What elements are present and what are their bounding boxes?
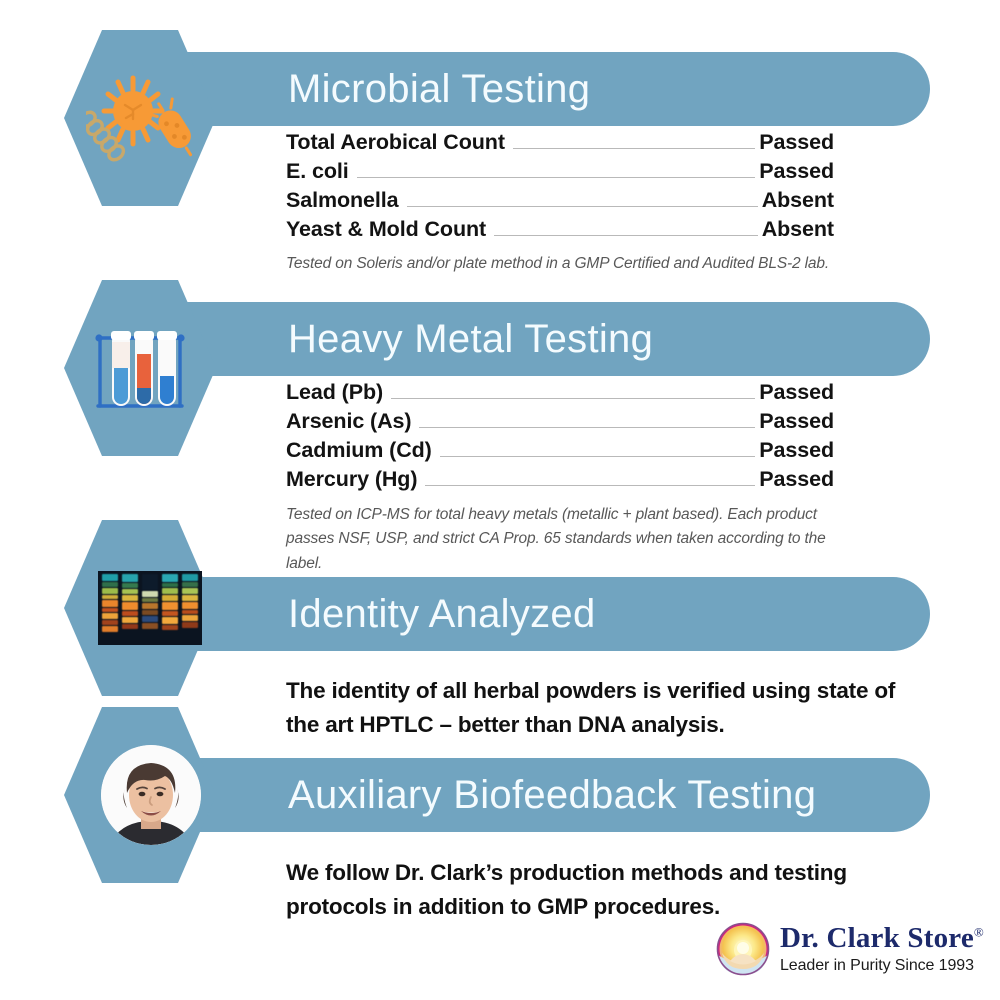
row-value: Passed	[759, 159, 834, 184]
row-label: Cadmium (Cd)	[286, 438, 432, 463]
table-row: Arsenic (As) Passed	[286, 409, 834, 438]
row-value: Passed	[759, 130, 834, 155]
leader-line	[494, 235, 758, 236]
registered-mark: ®	[974, 924, 984, 939]
row-value: Passed	[759, 409, 834, 434]
test-tubes-icon	[85, 313, 195, 423]
section-title-heavy-metal: Heavy Metal Testing	[288, 319, 653, 359]
gel-lane	[162, 574, 178, 642]
table-row: E. coli Passed	[286, 159, 834, 188]
section-banner-microbial: Microbial Testing	[150, 52, 930, 126]
row-label: Yeast & Mold Count	[286, 217, 486, 242]
row-label: E. coli	[286, 159, 349, 184]
brand-tagline: Leader in Purity Since 1993	[780, 958, 984, 974]
table-row: Salmonella Absent	[286, 188, 834, 217]
section-title-biofeedback: Auxiliary Biofeedback Testing	[288, 775, 816, 815]
row-label: Mercury (Hg)	[286, 467, 417, 492]
row-value: Absent	[762, 217, 834, 242]
section-note-heavy-metal: Tested on ICP-MS for total heavy metals …	[286, 503, 846, 576]
leader-line	[391, 398, 755, 399]
section-banner-identity: Identity Analyzed	[150, 577, 930, 651]
gel-lane	[122, 574, 138, 642]
leader-line	[357, 177, 756, 178]
section-paragraph-biofeedback: We follow Dr. Clark’s production methods…	[286, 856, 896, 924]
portrait-icon	[101, 745, 201, 845]
gel-lane	[142, 574, 158, 642]
leader-line	[513, 148, 755, 149]
section-title-microbial: Microbial Testing	[288, 69, 590, 109]
section-note-microbial: Tested on Soleris and/or plate method in…	[286, 252, 846, 276]
table-row: Lead (Pb) Passed	[286, 380, 834, 409]
leader-line	[425, 485, 755, 486]
table-row: Cadmium (Cd) Passed	[286, 438, 834, 467]
dr-clark-emblem-icon	[716, 922, 770, 976]
leader-line	[407, 206, 758, 207]
table-row: Total Aerobical Count Passed	[286, 130, 834, 159]
row-value: Absent	[762, 188, 834, 213]
results-list-microbial: Total Aerobical Count Passed E. coli Pas…	[286, 130, 834, 246]
row-value: Passed	[759, 438, 834, 463]
leader-line	[440, 456, 756, 457]
row-label: Total Aerobical Count	[286, 130, 505, 155]
section-paragraph-identity: The identity of all herbal powders is ve…	[286, 674, 896, 742]
row-label: Salmonella	[286, 188, 399, 213]
brand-logo[interactable]: Dr. Clark Store® Leader in Purity Since …	[716, 922, 984, 976]
results-list-heavy-metal: Lead (Pb) Passed Arsenic (As) Passed Cad…	[286, 380, 834, 496]
brand-logo-text: Dr. Clark Store® Leader in Purity Since …	[780, 924, 984, 974]
microbes-icon	[85, 63, 195, 173]
row-value: Passed	[759, 380, 834, 405]
section-banner-heavy-metal: Heavy Metal Testing	[150, 302, 930, 376]
row-value: Passed	[759, 467, 834, 492]
gel-lane	[102, 574, 118, 642]
section-title-identity: Identity Analyzed	[288, 594, 596, 634]
row-label: Lead (Pb)	[286, 380, 383, 405]
table-row: Mercury (Hg) Passed	[286, 467, 834, 496]
brand-name-text: Dr. Clark Store	[780, 922, 974, 954]
gel-lane	[182, 574, 198, 642]
infographic-canvas: Microbial Testing	[0, 0, 1000, 1000]
row-label: Arsenic (As)	[286, 409, 411, 434]
section-banner-biofeedback: Auxiliary Biofeedback Testing	[150, 758, 930, 832]
table-row: Yeast & Mold Count Absent	[286, 217, 834, 246]
leader-line	[419, 427, 755, 428]
brand-name: Dr. Clark Store®	[780, 924, 984, 953]
gel-electrophoresis-icon	[98, 571, 202, 645]
